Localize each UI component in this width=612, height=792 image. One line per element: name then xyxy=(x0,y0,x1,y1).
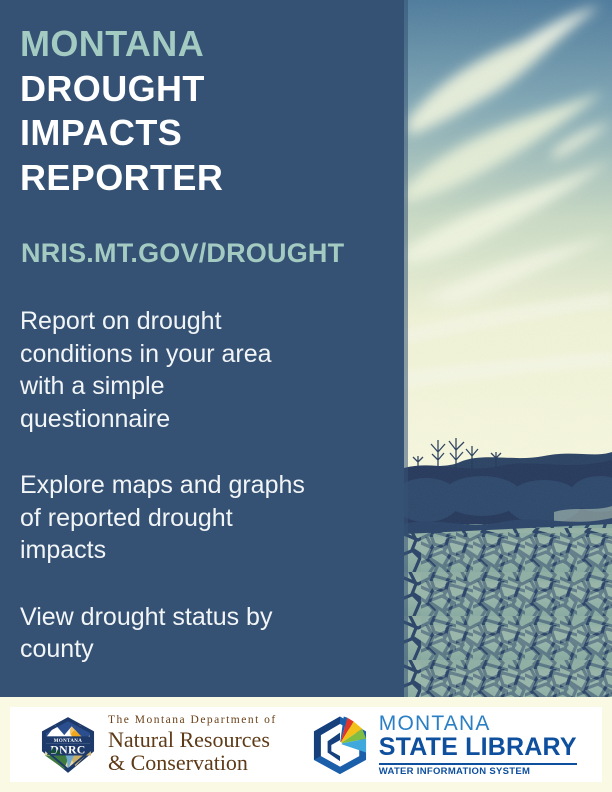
photo-artwork xyxy=(404,0,612,697)
montana-state-library-logo[interactable]: MONTANA STATE LIBRARY WATER INFORMATION … xyxy=(309,713,577,777)
list-item: Report on drought conditions in your are… xyxy=(20,305,310,435)
dnrc-mark-acronym: DNRC xyxy=(50,743,85,756)
dnrc-line-2: Natural Resources xyxy=(108,729,277,751)
drought-photograph xyxy=(404,0,612,697)
dnrc-line-1: The Montana Department of xyxy=(108,715,277,727)
title-line-reporter: REPORTER xyxy=(20,156,390,201)
title-line-drought: DROUGHT xyxy=(20,67,390,112)
msl-divider xyxy=(379,763,577,765)
footer-inner: MONTANA DNRC The Montana Department of xyxy=(10,707,602,782)
website-url-link[interactable]: NRIS.MT.GOV/DROUGHT xyxy=(21,238,344,269)
poster-root: MONTANA DROUGHT IMPACTS REPORTER NRIS.MT… xyxy=(0,0,612,792)
dnrc-shield-icon: MONTANA DNRC xyxy=(37,714,99,776)
dnrc-logo[interactable]: MONTANA DNRC The Montana Department of xyxy=(37,714,277,776)
msl-line-montana: MONTANA xyxy=(379,713,577,734)
msl-line-state-library: STATE LIBRARY xyxy=(379,735,577,760)
content-panel: MONTANA DROUGHT IMPACTS REPORTER NRIS.MT… xyxy=(0,0,404,697)
feature-list: Report on drought conditions in your are… xyxy=(20,305,310,666)
page-title: MONTANA DROUGHT IMPACTS REPORTER xyxy=(20,22,390,201)
msl-line-water-information-system: WATER INFORMATION SYSTEM xyxy=(379,767,577,777)
footer-logo-band: MONTANA DNRC The Montana Department of xyxy=(0,697,612,792)
title-line-montana: MONTANA xyxy=(20,22,390,67)
dnrc-wordmark: The Montana Department of Natural Resour… xyxy=(108,715,277,774)
list-item: Explore maps and graphs of reported drou… xyxy=(20,469,310,567)
list-item: View drought status by county xyxy=(20,601,310,666)
dnrc-line-3: & Conservation xyxy=(108,752,277,774)
state-library-mark-icon xyxy=(309,714,371,776)
title-line-impacts: IMPACTS xyxy=(20,111,390,156)
state-library-wordmark: MONTANA STATE LIBRARY WATER INFORMATION … xyxy=(379,713,577,777)
